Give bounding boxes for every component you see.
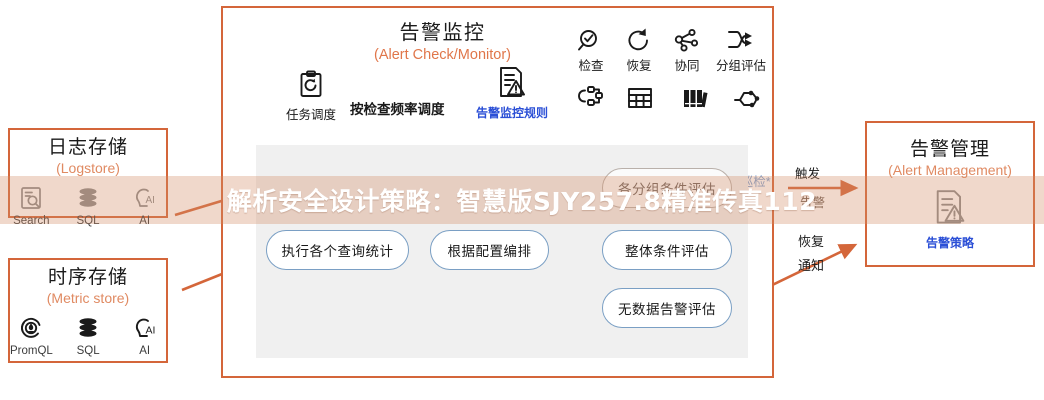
alert-management-title: 告警管理 — [867, 139, 1033, 161]
alert-policy-label: 告警策略 — [867, 234, 1033, 251]
prometheus-icon — [18, 313, 44, 343]
alert-rule-label: 告警监控规则 — [468, 104, 556, 121]
flow-box-config-orchestrate[interactable]: 根据配置编排 — [430, 230, 549, 270]
feature-group-eval-label: 分组评估 — [709, 55, 773, 74]
metricstore-subtitle: (Metric store) — [10, 290, 166, 307]
notify-label: 通知 — [798, 255, 824, 274]
metricstore-icon-ai[interactable]: AI AI — [123, 313, 166, 357]
feature-collaborate-label: 协同 — [665, 55, 709, 74]
metricstore-icon-promql-label: PromQL — [10, 345, 53, 357]
logstore-icon-search[interactable]: Search — [10, 183, 53, 227]
trigger-label: 触发 — [795, 163, 820, 182]
task-scheduler-label: 任务调度 — [278, 104, 344, 123]
alert-management-subtitle: (Alert Management) — [867, 162, 1033, 179]
svg-text:AI: AI — [145, 324, 155, 336]
metricstore-icon-row: PromQL SQL AI — [10, 313, 166, 357]
clipboard-refresh-icon — [298, 70, 324, 105]
metricstore-icon-promql[interactable]: PromQL — [10, 313, 53, 357]
logstore-icon-ai-label: AI — [139, 215, 150, 227]
flow-box-overall-condition-eval[interactable]: 整体条件评估 — [602, 230, 732, 270]
feature-recover-label: 恢复 — [617, 55, 661, 74]
alert-policy-doc-icon — [933, 214, 967, 231]
recover-label: 恢复 — [798, 231, 824, 250]
database-icon — [75, 313, 101, 343]
logstore-icon-row: Search SQL AI — [10, 183, 166, 227]
feature-collaborate[interactable]: 协同 — [665, 26, 709, 61]
metricstore-icon-ai-label: AI — [139, 345, 150, 357]
ai-head-icon: AI — [132, 183, 158, 213]
alert-policy-icon-wrap[interactable] — [867, 189, 1033, 232]
metricstore-icon-sql[interactable]: SQL — [67, 313, 110, 357]
alert-management-panel[interactable]: 告警管理 (Alert Management) 告警策略 — [865, 121, 1035, 267]
trigger-alert-label: 告警 — [800, 192, 825, 211]
resource-table-icon — [625, 101, 655, 118]
feature-check[interactable]: 检查 — [569, 26, 613, 61]
metricstore-title: 时序存储 — [10, 267, 166, 289]
flow-box-group-condition-eval[interactable]: 各分组条件评估 — [602, 168, 732, 208]
search-doc-icon — [18, 183, 44, 213]
logstore-icon-sql[interactable]: SQL — [67, 183, 110, 227]
alert-rule-doc-icon — [497, 66, 527, 105]
logstore-subtitle: (Logstore) — [10, 160, 166, 177]
logstore-icon-ai[interactable]: AI AI — [123, 183, 166, 227]
metricstore-panel[interactable]: 时序存储 (Metric store) PromQL — [8, 258, 168, 363]
feature-orchestrate[interactable]: 编排 — [569, 84, 613, 119]
flow-box-no-data-alert-eval[interactable]: 无数据告警评估 — [602, 288, 732, 328]
logstore-title: 日志存储 — [10, 137, 166, 159]
feature-recover[interactable]: 恢复 — [617, 26, 661, 61]
feature-resource-data[interactable]: 资源数据 — [611, 84, 669, 119]
orchestrate-icon — [576, 101, 606, 118]
svg-text:AI: AI — [145, 195, 154, 206]
logstore-icon-sql-label: SQL — [77, 215, 100, 227]
schedule-frequency-label: 按检查频率调度 — [350, 98, 445, 118]
feature-group-eval[interactable]: 分组评估 — [713, 26, 769, 61]
flow-box-exec-query[interactable]: 执行各个查询统计 — [266, 230, 409, 270]
rule-library-icon — [680, 101, 710, 118]
logstore-icon-search-label: Search — [13, 215, 49, 227]
feature-ml-inspect[interactable]: ML巡检* — [719, 84, 775, 119]
diagram-canvas: 日志存储 (Logstore) Search — [0, 0, 1044, 400]
ai-head-icon: AI — [132, 313, 158, 343]
logstore-panel[interactable]: 日志存储 (Logstore) Search — [8, 128, 168, 218]
database-icon — [75, 183, 101, 213]
feature-rule-library[interactable]: 规则库 — [669, 84, 721, 119]
ml-inspect-icon — [732, 101, 762, 118]
metricstore-icon-sql-label: SQL — [77, 345, 100, 357]
feature-check-label: 检查 — [569, 55, 613, 74]
